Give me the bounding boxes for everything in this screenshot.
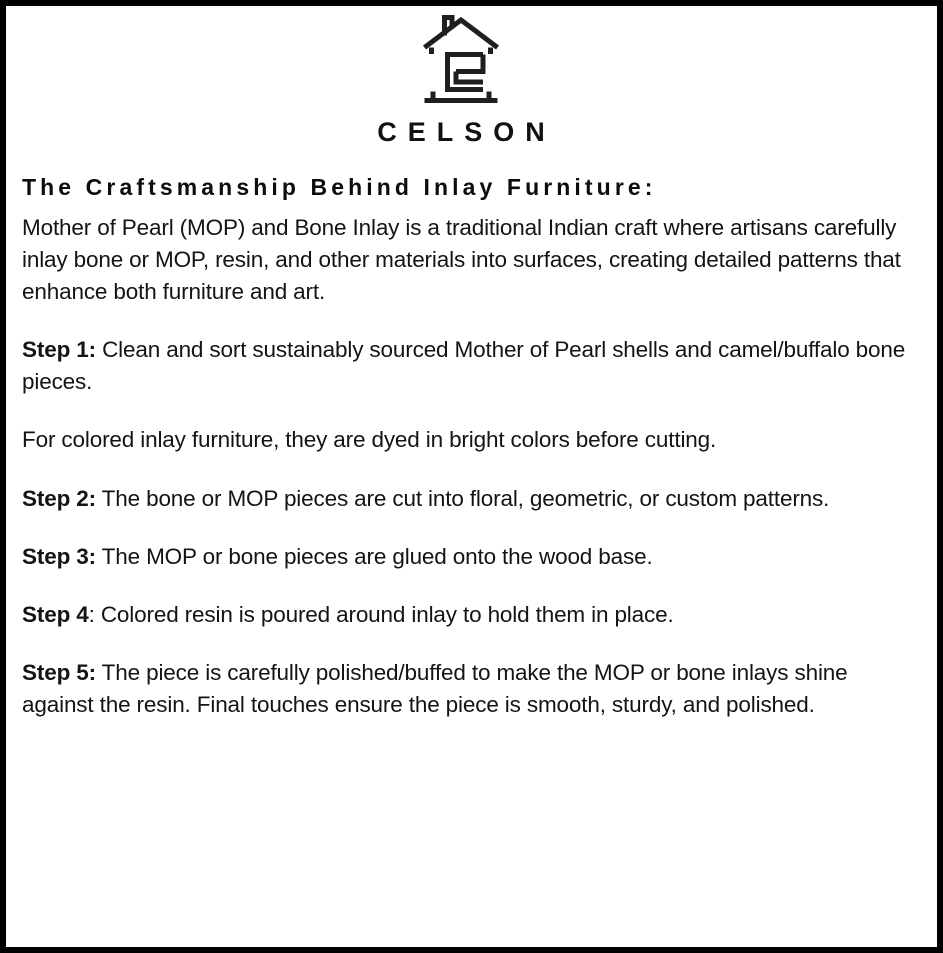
paragraph-text: The MOP or bone pieces are glued onto th… (96, 544, 653, 569)
brand-wordmark: CELSON (16, 119, 906, 146)
paragraph-text: The piece is carefully polished/buffed t… (22, 660, 848, 717)
paragraph-step-5: Step 5: The piece is carefully polished/… (22, 657, 906, 721)
paragraph-intro: Mother of Pearl (MOP) and Bone Inlay is … (22, 212, 906, 309)
paragraph-lead: Step 3: (22, 544, 96, 569)
paragraph-step-4: Step 4: Colored resin is poured around i… (22, 599, 906, 631)
paragraph-lead: Step 2: (22, 486, 96, 511)
poster-content: CELSON The Craftsmanship Behind Inlay Fu… (6, 6, 937, 947)
paragraph-lead: Step 5: (22, 660, 96, 685)
paragraph-lead: Step 1: (22, 337, 96, 362)
paragraph-step-2: Step 2: The bone or MOP pieces are cut i… (22, 483, 906, 515)
paragraph-dyeing-note: For colored inlay furniture, they are dy… (22, 424, 906, 456)
paragraph-step-1: Step 1: Clean and sort sustainably sourc… (22, 334, 906, 398)
paragraph-step-3: Step 3: The MOP or bone pieces are glued… (22, 541, 906, 573)
house-monogram-logo-icon (422, 13, 500, 108)
brand-block: CELSON (16, 13, 906, 146)
paragraph-text: Mother of Pearl (MOP) and Bone Inlay is … (22, 215, 901, 304)
body-copy: Mother of Pearl (MOP) and Bone Inlay is … (22, 202, 906, 722)
paragraph-text: Clean and sort sustainably sourced Mothe… (22, 337, 905, 394)
paragraph-text: Colored resin is poured around inlay to … (95, 602, 674, 627)
page-title: The Craftsmanship Behind Inlay Furniture… (22, 174, 906, 202)
paragraph-lead: Step 4 (22, 602, 89, 627)
poster-card: CELSON The Craftsmanship Behind Inlay Fu… (0, 0, 943, 953)
paragraph-text: For colored inlay furniture, they are dy… (22, 427, 716, 452)
paragraph-text: The bone or MOP pieces are cut into flor… (96, 486, 829, 511)
